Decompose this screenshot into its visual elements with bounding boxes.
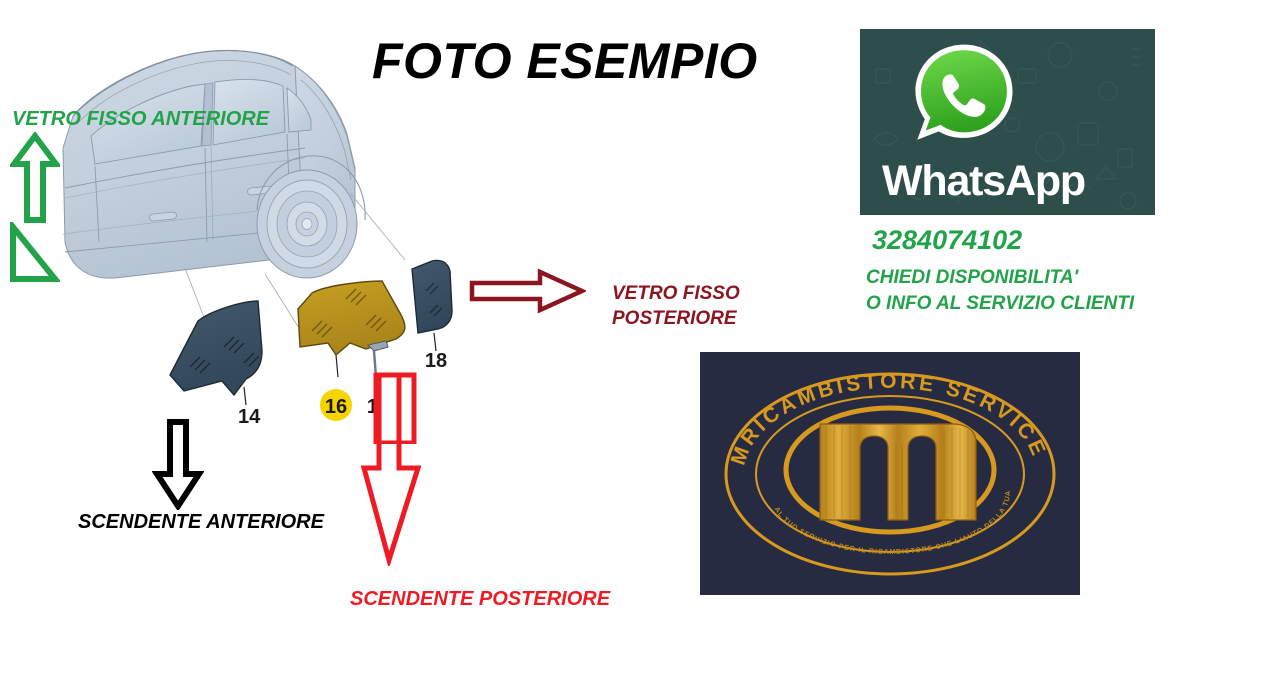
red-highlight-rectangle xyxy=(373,372,417,444)
whatsapp-cta-text: CHIEDI DISPONIBILITA' O INFO AL SERVIZIO… xyxy=(866,265,1134,316)
part-number-16: 16 xyxy=(325,396,347,418)
poster-canvas: 14 16 17 18 VETRO FISSO ANTERIORE VETRO … xyxy=(0,0,1264,678)
part-14-glass xyxy=(170,301,262,405)
page-title: FOTO ESEMPIO xyxy=(372,32,758,90)
whatsapp-banner: WhatsApp xyxy=(860,29,1155,215)
whatsapp-phone-number[interactable]: 3284074102 xyxy=(872,225,1022,256)
shop-logo: MRICAMBISTORE SERVICE DI RUSSO MARCO AL … xyxy=(700,352,1080,595)
whatsapp-logo-icon xyxy=(908,39,1020,151)
green-triangle-icon xyxy=(8,222,60,284)
green-up-arrow-icon xyxy=(10,132,60,224)
shop-logo-ring-text: MRICAMBISTORE SERVICE DI RUSSO MARCO xyxy=(700,352,1054,470)
part-number-14: 14 xyxy=(238,406,261,428)
shop-logo-monogram xyxy=(820,424,976,520)
label-scendente-posteriore: SCENDENTE POSTERIORE xyxy=(350,588,610,611)
shop-logo-graphic: MRICAMBISTORE SERVICE DI RUSSO MARCO AL … xyxy=(700,352,1080,595)
dark-red-right-arrow-icon xyxy=(468,268,586,314)
exploded-glass-parts: 14 16 17 18 xyxy=(150,255,480,435)
label-vetro-fisso-posteriore: VETRO FISSO POSTERIORE xyxy=(612,281,740,332)
part-number-18: 18 xyxy=(425,350,447,372)
label-vetro-fisso-anteriore: VETRO FISSO ANTERIORE xyxy=(12,108,269,131)
part-18-glass xyxy=(412,260,452,351)
label-scendente-anteriore: SCENDENTE ANTERIORE xyxy=(78,511,324,534)
part-16-glass xyxy=(298,281,405,377)
black-down-arrow-icon xyxy=(152,418,204,510)
whatsapp-wordmark: WhatsApp xyxy=(882,157,1085,206)
